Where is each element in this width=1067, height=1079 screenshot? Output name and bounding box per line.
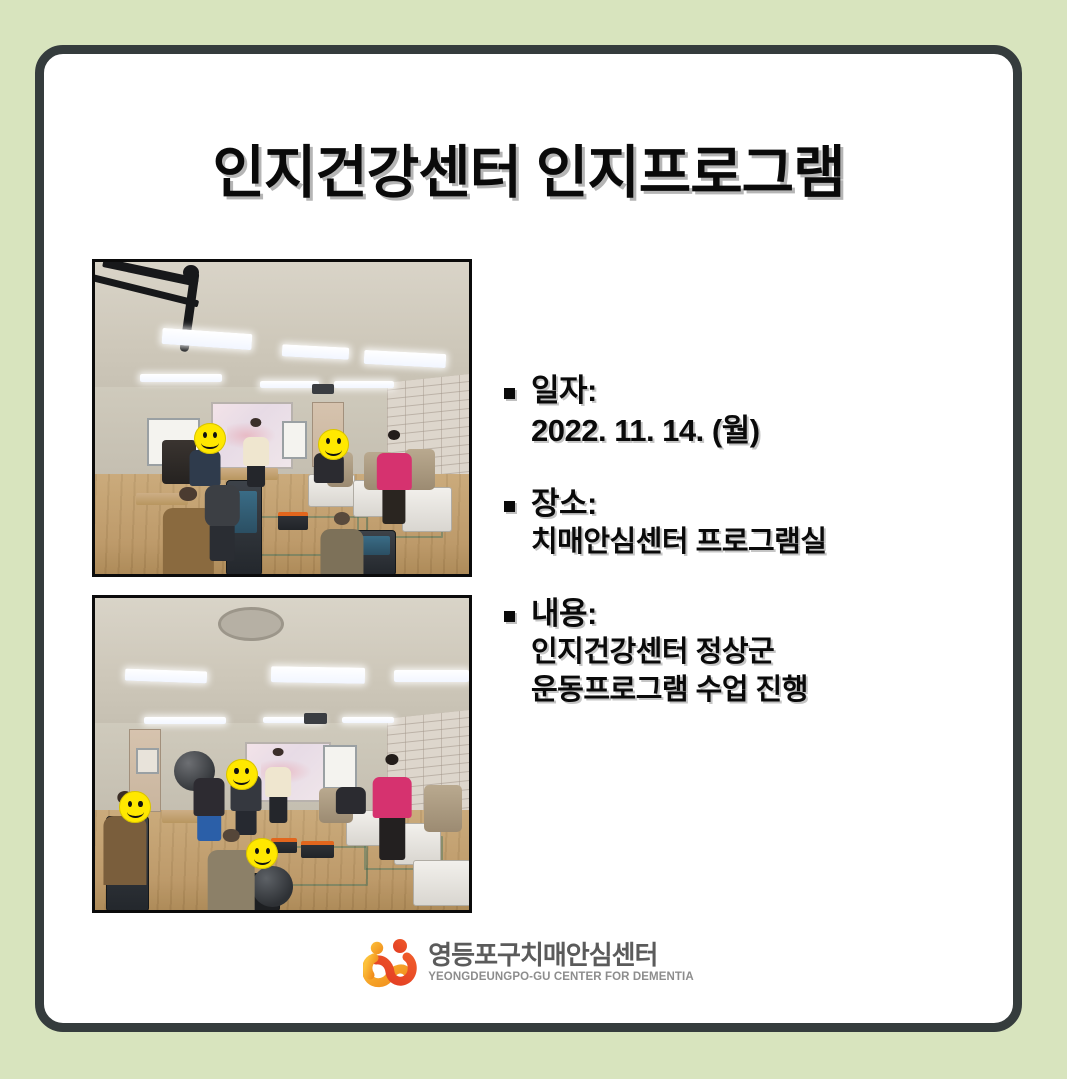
exercise-machine xyxy=(413,860,471,906)
ceiling-light xyxy=(260,381,320,388)
smiley-face-sticker xyxy=(194,423,226,454)
info-label-content: 내용: xyxy=(531,595,597,634)
person-foreground-right xyxy=(319,512,364,574)
person-bending xyxy=(203,480,240,561)
square-bullet-icon xyxy=(504,611,515,622)
machine-seat xyxy=(424,785,461,832)
program-photo-2 xyxy=(92,595,472,913)
smiley-face-sticker xyxy=(119,791,151,822)
info-item-header: 일자: xyxy=(504,372,974,411)
person-instructor xyxy=(263,748,293,823)
organization-logo: 영등포구치매안심센터 YEONGDEUNGPO-GU CENTER FOR DE… xyxy=(44,937,1013,989)
person-head xyxy=(334,512,350,525)
person-body xyxy=(243,437,269,466)
person-body xyxy=(373,777,412,817)
info-label-date: 일자: xyxy=(531,372,597,411)
info-label-place: 장소: xyxy=(531,485,597,524)
info-line: 운동프로그램 수업 진행 xyxy=(531,672,974,710)
person-pink-jacket xyxy=(376,430,413,524)
info-value-content: 인지건강센터 정상군 운동프로그램 수업 진행 xyxy=(531,634,974,709)
rail-joint xyxy=(183,265,199,280)
person-body xyxy=(377,453,411,490)
info-value-date: 2022. 11. 14. (월) xyxy=(531,411,974,451)
projector xyxy=(304,713,326,724)
person-seated xyxy=(334,779,368,823)
step-box xyxy=(278,512,308,530)
page-title: 인지건강센터 인지프로그램 xyxy=(44,127,1013,209)
logo-name-english: YEONGDEUNGPO-GU CENTER FOR DEMENTIA xyxy=(428,972,693,984)
ceiling-light xyxy=(140,374,222,382)
info-item-date: 일자: 2022. 11. 14. (월) xyxy=(504,372,974,451)
person-legs xyxy=(210,526,235,562)
info-item-header: 내용: xyxy=(504,595,974,634)
logo-text-block: 영등포구치매안심센터 YEONGDEUNGPO-GU CENTER FOR DE… xyxy=(428,942,693,984)
person-head xyxy=(386,754,399,765)
ceiling-light xyxy=(334,381,394,388)
poster-card: 인지건강센터 인지프로그램 xyxy=(35,45,1022,1032)
person-body xyxy=(320,529,363,574)
exercise-ball xyxy=(252,866,293,907)
person-body xyxy=(265,767,291,797)
person-head xyxy=(180,487,198,502)
smiley-mouth xyxy=(201,437,218,450)
person-body xyxy=(336,787,366,814)
smiley-mouth xyxy=(254,852,271,865)
person-legs xyxy=(247,466,265,487)
smiley-mouth xyxy=(127,805,144,818)
info-value-place: 치매안심센터 프로그램실 xyxy=(531,524,974,562)
person-head xyxy=(273,748,284,756)
square-bullet-icon xyxy=(504,501,515,512)
smiley-face-sticker xyxy=(226,759,258,790)
person-foreground-center xyxy=(207,829,256,910)
smiley-mouth xyxy=(233,773,250,786)
person-body xyxy=(194,778,225,815)
square-bullet-icon xyxy=(504,388,515,399)
ceiling-light xyxy=(271,666,365,683)
info-item-content: 내용: 인지건강센터 정상군 운동프로그램 수업 진행 xyxy=(504,595,974,709)
person-body xyxy=(103,816,146,885)
person-instructor xyxy=(241,418,271,487)
ceiling-light xyxy=(394,670,469,682)
logo-name-korean: 영등포구치매안심센터 xyxy=(428,942,693,968)
person-legs xyxy=(270,797,287,822)
notice-board xyxy=(282,421,307,459)
info-item-header: 장소: xyxy=(504,485,974,524)
photo-2-scene xyxy=(95,598,469,910)
person-legs xyxy=(380,818,405,860)
person-head xyxy=(250,418,261,427)
info-line: 치매안심센터 프로그램실 xyxy=(531,524,974,562)
program-photo-1 xyxy=(92,259,472,577)
projector xyxy=(312,384,334,394)
person-body xyxy=(205,485,239,527)
info-item-place: 장소: 치매안심센터 프로그램실 xyxy=(504,485,974,561)
two-figures-infinity-mark-icon xyxy=(363,937,417,989)
ceiling-light xyxy=(144,717,226,724)
smiley-face-sticker xyxy=(318,429,350,460)
person-head xyxy=(223,829,240,843)
smiley-mouth xyxy=(325,443,342,456)
ceiling xyxy=(95,598,469,723)
step-box xyxy=(301,841,335,857)
wall-poster xyxy=(136,748,159,774)
person-head xyxy=(388,430,400,440)
info-list: 일자: 2022. 11. 14. (월) 장소: 치매안심센터 프로그램실 내… xyxy=(504,372,974,710)
photo-1-scene xyxy=(95,262,469,574)
person-legs xyxy=(383,490,406,524)
ceiling-light xyxy=(342,717,394,724)
info-line: 인지건강센터 정상군 xyxy=(531,634,974,672)
info-line: 2022. 11. 14. (월) xyxy=(531,411,974,451)
person-pink-jacket xyxy=(372,754,413,860)
